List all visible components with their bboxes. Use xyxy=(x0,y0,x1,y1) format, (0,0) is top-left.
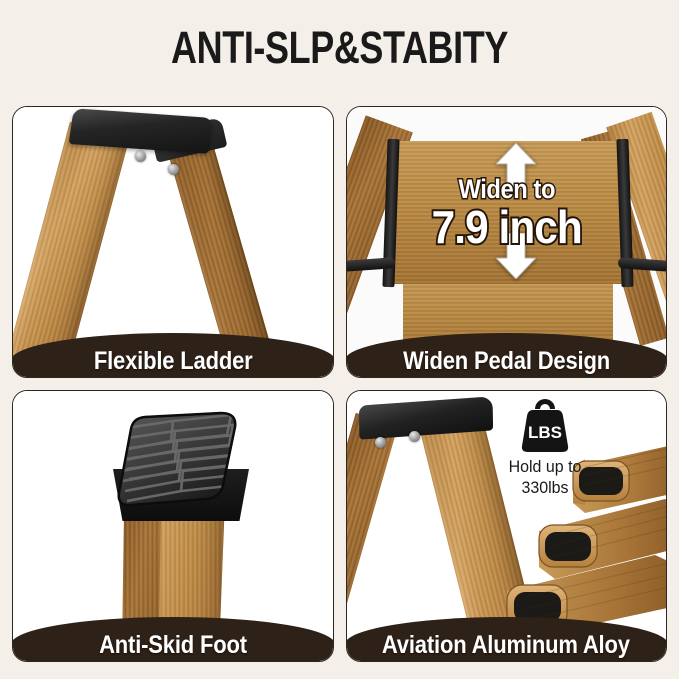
capacity-caption-line-1: Hold up to xyxy=(493,456,596,477)
anti-skid-foot-icon xyxy=(111,411,251,515)
rivet-icon xyxy=(409,431,420,442)
panel-aviation-aluminum-aloy[interactable]: LBS Hold up to 330lbs xyxy=(346,390,668,662)
svg-text:LBS: LBS xyxy=(528,423,562,442)
feature-panel-grid: Flexible Ladder xyxy=(12,106,667,662)
panel-anti-skid-foot[interactable]: Anti-Skid Foot xyxy=(12,390,334,662)
rivet-icon xyxy=(375,437,386,448)
panel-flexible-ladder[interactable]: Flexible Ladder xyxy=(12,106,334,378)
label-bar-widen-pedal-design: Widen Pedal Design xyxy=(346,333,668,378)
rivet-icon xyxy=(135,151,146,162)
ladder-left-leg xyxy=(347,413,398,661)
panel-widen-pedal-design[interactable]: Widen to 7.9 inch Widen Pedal Design xyxy=(346,106,668,378)
panel-label: Flexible Ladder xyxy=(93,347,252,375)
label-bar-flexible-ladder: Flexible Ladder xyxy=(12,333,334,378)
label-bar-aviation-aluminum-aloy: Aviation Aluminum Aloy xyxy=(346,617,668,662)
panel-label: Anti-Skid Foot xyxy=(99,631,247,659)
page-title: ANTI-SLP&STABITY xyxy=(68,22,611,74)
arrow-down-icon xyxy=(496,233,536,284)
panel-label: Widen Pedal Design xyxy=(403,347,610,375)
rivet-icon xyxy=(168,164,179,175)
panel-label: Aviation Aluminum Aloy xyxy=(382,631,630,659)
capacity-caption-line-2: 330lbs xyxy=(493,477,596,498)
arrow-up-icon xyxy=(496,143,536,194)
label-bar-anti-skid-foot: Anti-Skid Foot xyxy=(12,617,334,662)
weight-lbs-icon: LBS xyxy=(516,397,574,453)
weight-capacity-badge: LBS Hold up to 330lbs xyxy=(490,397,600,498)
